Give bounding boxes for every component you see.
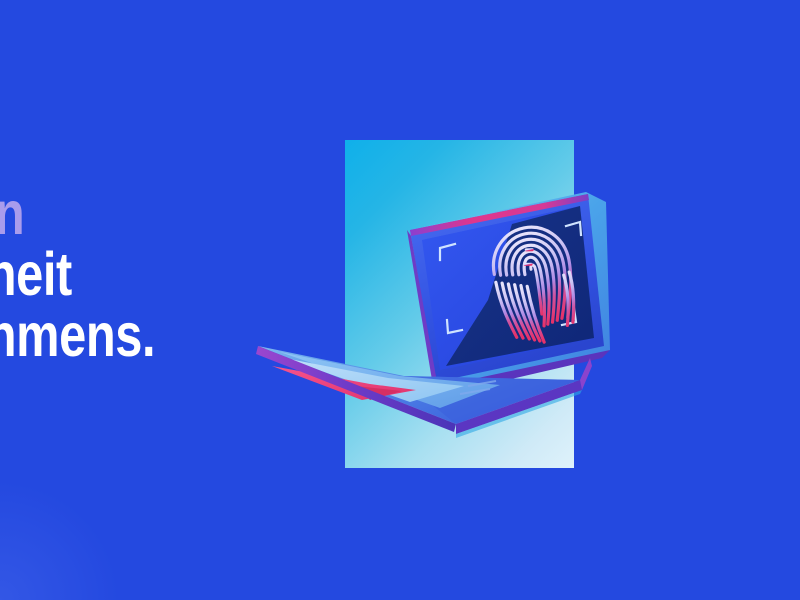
headline-line-2: herheit xyxy=(0,247,248,302)
headline-line-3: rnehmens. xyxy=(0,308,248,363)
laptop-fingerprint-illustration xyxy=(250,180,630,450)
headline-line-1: chen xyxy=(0,186,248,241)
corner-glow xyxy=(0,480,120,600)
base-corner-edge xyxy=(580,358,592,390)
banner-canvas: chen herheit rnehmens. xyxy=(0,0,800,600)
